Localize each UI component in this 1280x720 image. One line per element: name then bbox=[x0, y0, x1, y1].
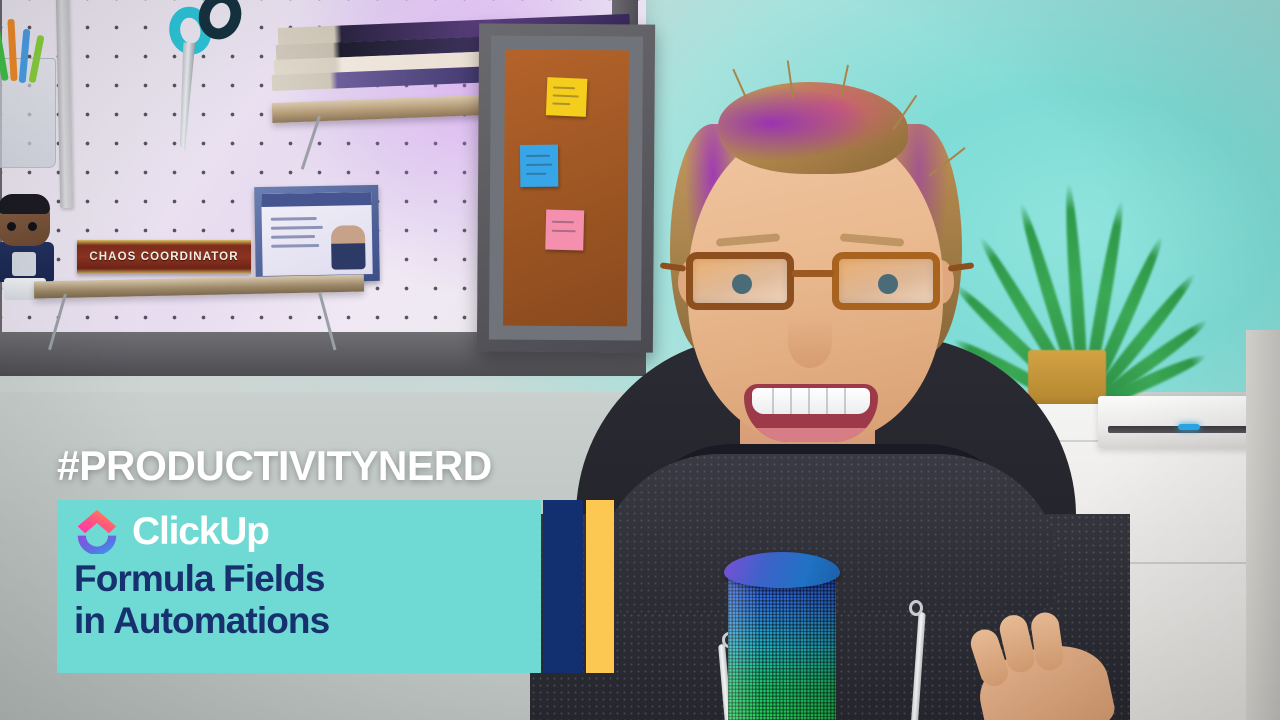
funko-jersey bbox=[12, 252, 36, 276]
speaker-top-cap bbox=[724, 552, 840, 588]
title-banner: ClickUp Formula Fields in Automations bbox=[57, 500, 541, 673]
photo-text-line bbox=[271, 235, 315, 239]
hashtag-label: #PRODUCTIVITYNERD bbox=[57, 445, 492, 487]
banner-title-line-1: Formula Fields bbox=[74, 558, 325, 599]
accent-bar-navy bbox=[543, 500, 583, 673]
video-thumbnail: CHAOS COORDINATOR bbox=[0, 0, 1280, 720]
lower-lip bbox=[744, 428, 878, 442]
eye-left bbox=[732, 274, 752, 294]
framed-photo-image bbox=[261, 192, 372, 276]
eye-right bbox=[878, 274, 898, 294]
smiling-mouth bbox=[744, 384, 878, 442]
nameplate-label: CHAOS COORDINATOR bbox=[89, 251, 238, 263]
funko-eye bbox=[28, 222, 37, 231]
tortoiseshell-glasses bbox=[680, 252, 955, 314]
scissors-blade bbox=[178, 42, 196, 150]
wall-right-edge bbox=[1246, 330, 1280, 720]
funko-eye bbox=[7, 222, 16, 231]
desk-nameplate: CHAOS COORDINATOR bbox=[77, 240, 251, 274]
accent-bar-yellow bbox=[586, 500, 614, 673]
speaker-highlight bbox=[728, 574, 836, 720]
banner-title-line-2: in Automations bbox=[74, 600, 514, 642]
printer-status-led bbox=[1178, 424, 1200, 430]
funko-hair bbox=[0, 194, 50, 214]
clickup-logo-lockup: ClickUp bbox=[74, 508, 269, 554]
framed-photo bbox=[254, 185, 380, 283]
photo-text-line bbox=[271, 226, 323, 230]
teeth bbox=[752, 388, 870, 414]
banner-title: Formula Fields in Automations bbox=[74, 558, 514, 642]
photo-text-line bbox=[271, 217, 317, 221]
nose bbox=[788, 316, 832, 368]
clickup-wordmark: ClickUp bbox=[132, 512, 269, 551]
photo-text-line bbox=[271, 244, 319, 248]
pencil-cup bbox=[0, 58, 56, 168]
rgb-led-bluetooth-speaker bbox=[724, 552, 840, 720]
glasses-bridge bbox=[792, 270, 834, 277]
drawstring-eyelet-right bbox=[909, 600, 923, 616]
clickup-logo-icon bbox=[74, 508, 120, 554]
photo-person bbox=[331, 225, 366, 270]
photo-header-bar bbox=[261, 192, 371, 207]
